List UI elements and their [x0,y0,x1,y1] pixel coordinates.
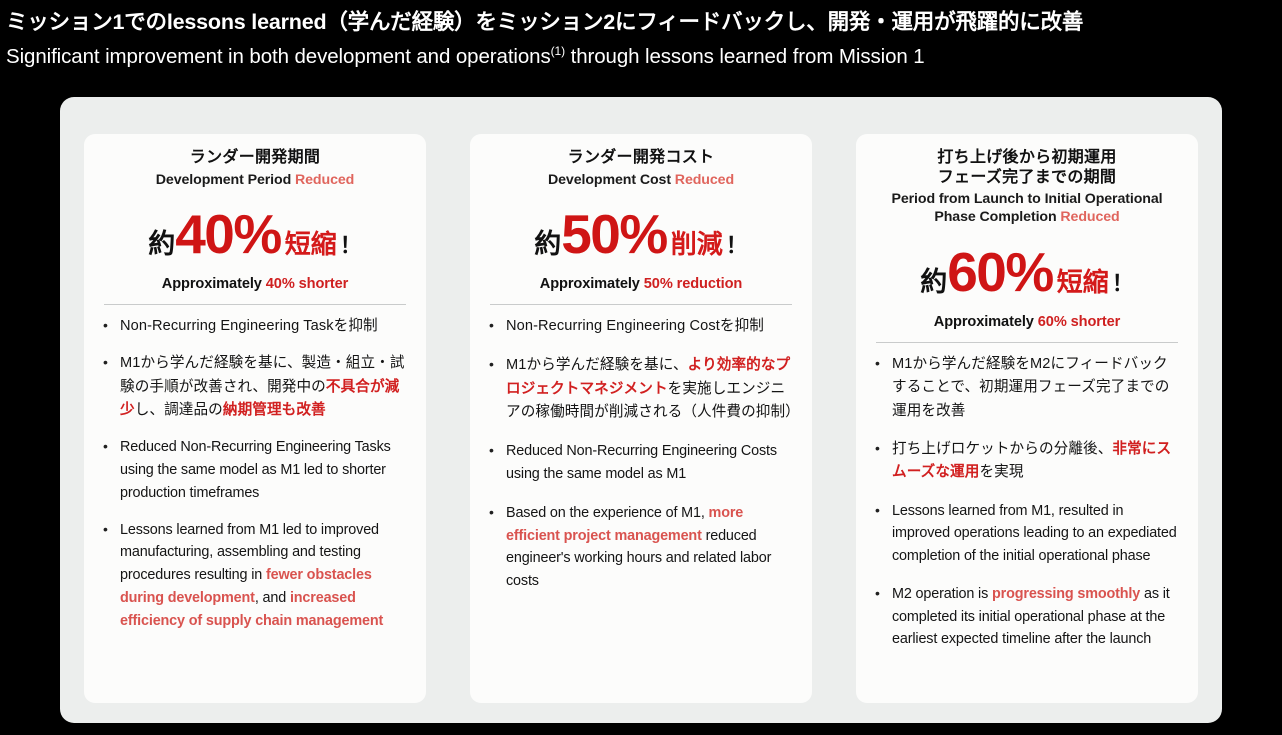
metric-subcaption-highlight: 50% reduction [644,276,742,292]
bullet-list: M1から学んだ経験をM2にフィードバックすることで、初期運用フェーズ完了までの運… [872,353,1182,666]
slide-title-english-main: Significant improvement in both developm… [6,45,551,68]
list-item: M1から学んだ経験を基に、製造・組立・試験の手順が改善され、開発中の不具合が減少… [100,352,410,422]
list-item: Non-Recurring Engineering Costを抑制 [486,315,796,338]
bullet-list: Non-Recurring Engineering Taskを抑制M1から学んだ… [100,315,410,646]
metric-value: 50% [561,203,667,265]
metric-subcaption-main: Approximately [934,314,1038,330]
body-text: Reduced Non-Recurring Engineering Tasks … [120,439,391,501]
bullet-list: Non-Recurring Engineering Costを抑制M1から学んだ… [486,315,796,609]
body-text: 打ち上げロケットからの分離後、 [892,441,1112,457]
metric-subcaption-highlight: 40% shorter [266,276,348,292]
metric-suffix: 短縮 [1057,267,1109,297]
slide: ミッション1でのlessons learned（学んだ経験）をミッション2にフィ… [0,0,1282,735]
card-header: ランダー開発期間 Development Period Reduced [100,148,410,189]
card-divider [104,304,406,305]
list-item: Lessons learned from M1 led to improved … [100,519,410,633]
list-item: 打ち上げロケットからの分離後、非常にスムーズな運用を実現 [872,438,1182,485]
metric-card-launch-to-initial-operation: 打ち上げ後から初期運用 フェーズ完了までの期間 Period from Laun… [856,134,1198,703]
body-text: Lessons learned from M1, resulted in imp… [892,503,1177,565]
body-text: Non-Recurring Engineering Taskを抑制 [120,318,378,334]
metric-exclamation: ！ [726,233,748,258]
body-text: し、調達品の [135,402,223,418]
body-text: Based on the experience of M1, [506,505,709,521]
card-title-english: Period from Launch to Initial Operationa… [872,190,1182,227]
list-item: M1から学んだ経験をM2にフィードバックすることで、初期運用フェーズ完了までの運… [872,353,1182,423]
list-item: Non-Recurring Engineering Taskを抑制 [100,315,410,338]
body-text: M1から学んだ経験をM2にフィードバックすることで、初期運用フェーズ完了までの運… [892,356,1169,419]
metrics-panel: ランダー開発期間 Development Period Reduced 約40%… [60,97,1222,723]
slide-title-english-tail: through lessons learned from Mission 1 [565,45,925,68]
body-text: M2 operation is [892,586,992,602]
metric-subcaption: Approximately 60% shorter [872,314,1182,330]
list-item: Reduced Non-Recurring Engineering Costs … [486,440,796,486]
card-title-english-main: Development Period [156,172,295,188]
list-item: Based on the experience of M1, more effi… [486,502,796,593]
metric-subcaption: Approximately 50% reduction [486,276,796,292]
metric-subcaption-main: Approximately [540,276,644,292]
list-item: M2 operation is progressing smoothly as … [872,583,1182,651]
footnote-marker: (1) [551,44,565,58]
highlight-text: 納期管理も改善 [223,402,326,418]
metric-exclamation: ！ [340,233,362,258]
body-text: Non-Recurring Engineering Costを抑制 [506,318,764,334]
body-text: M1から学んだ経験を基に、 [506,357,688,373]
metric-exclamation: ！ [1112,271,1134,296]
list-item: M1から学んだ経験を基に、より効率的なプロジェクトマネジメントを実施しエンジニア… [486,354,796,424]
metric-card-development-period: ランダー開発期間 Development Period Reduced 約40%… [84,134,426,703]
metric-subcaption-main: Approximately [162,276,266,292]
metric-subcaption-highlight: 60% shorter [1038,314,1120,330]
card-title-english: Development Cost Reduced [486,171,796,189]
metric-prefix: 約 [534,229,561,259]
card-title-japanese: ランダー開発期間 [100,148,410,168]
metric-subcaption: Approximately 40% shorter [100,276,410,292]
card-header: 打ち上げ後から初期運用 フェーズ完了までの期間 Period from Laun… [872,148,1182,227]
headline-metric: 約60%短縮！ [872,240,1182,304]
card-title-japanese: 打ち上げ後から初期運用 フェーズ完了までの期間 [872,148,1182,187]
body-text: , and [255,590,290,606]
headline-metric: 約40%短縮！ [100,202,410,266]
body-text: Reduced Non-Recurring Engineering Costs … [506,443,777,482]
card-title-english-main: Development Cost [548,172,675,188]
highlight-text: progressing smoothly [992,586,1140,602]
body-text: を実現 [979,464,1023,480]
card-title-english-highlight: Reduced [675,172,734,188]
card-divider [876,342,1178,343]
list-item: Reduced Non-Recurring Engineering Tasks … [100,436,410,504]
card-title-english-highlight: Reduced [295,172,354,188]
metric-value: 40% [175,203,281,265]
metric-suffix: 短縮 [285,229,337,259]
list-item: Lessons learned from M1, resulted in imp… [872,500,1182,568]
headline-metric: 約50%削減！ [486,202,796,266]
slide-title-japanese: ミッション1でのlessons learned（学んだ経験）をミッション2にフィ… [6,5,1278,36]
slide-title-english: Significant improvement in both developm… [6,44,1278,69]
metric-card-development-cost: ランダー開発コスト Development Cost Reduced 約50%削… [470,134,812,703]
card-title-english-main: Period from Launch to Initial Operationa… [891,191,1162,225]
metric-prefix: 約 [920,267,947,297]
card-title-english: Development Period Reduced [100,171,410,189]
card-header: ランダー開発コスト Development Cost Reduced [486,148,796,189]
card-title-english-highlight: Reduced [1060,209,1119,225]
metric-suffix: 削減 [671,229,723,259]
metric-value: 60% [947,241,1053,303]
metric-prefix: 約 [148,229,175,259]
card-divider [490,304,792,305]
card-title-japanese: ランダー開発コスト [486,148,796,168]
